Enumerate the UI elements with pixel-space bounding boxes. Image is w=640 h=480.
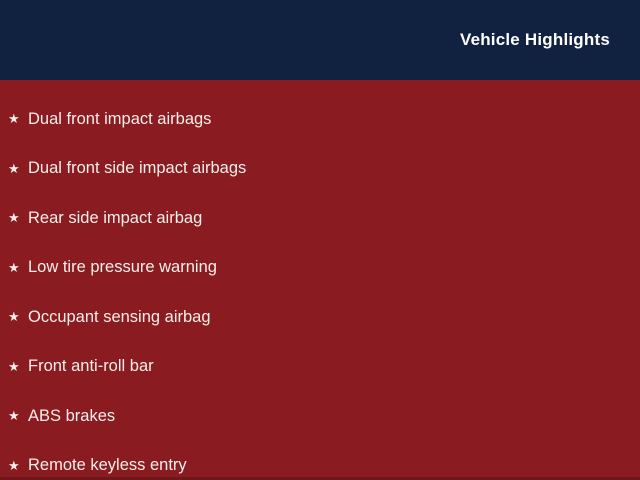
- list-item: ★ ABS brakes: [0, 391, 640, 441]
- star-bullet-icon: ★: [8, 360, 28, 373]
- star-bullet-icon: ★: [8, 409, 28, 422]
- star-bullet-icon: ★: [8, 211, 28, 224]
- list-item: ★ Occupant sensing airbag: [0, 292, 640, 342]
- star-bullet-icon: ★: [8, 162, 28, 175]
- list-item-label: ABS brakes: [28, 408, 115, 425]
- star-bullet-icon: ★: [8, 261, 28, 274]
- list-item-label: Low tire pressure warning: [28, 259, 217, 276]
- vehicle-highlights-list: ★ Dual front impact airbags ★ Dual front…: [0, 94, 640, 480]
- list-item-label: Rear side impact airbag: [28, 210, 202, 227]
- list-item-label: Dual front impact airbags: [28, 111, 211, 128]
- list-item-label: Front anti-roll bar: [28, 358, 154, 375]
- page-header: Vehicle Highlights: [0, 0, 640, 80]
- star-bullet-icon: ★: [8, 112, 28, 125]
- list-item: ★ Front anti-roll bar: [0, 342, 640, 392]
- list-item-label: Remote keyless entry: [28, 457, 187, 474]
- vehicle-highlights-page: Vehicle Highlights ★ Dual front impact a…: [0, 0, 640, 480]
- list-item: ★ Remote keyless entry: [0, 441, 640, 480]
- list-item: ★ Dual front impact airbags: [0, 94, 640, 144]
- list-item-label: Occupant sensing airbag: [28, 309, 211, 326]
- list-item: ★ Low tire pressure warning: [0, 243, 640, 293]
- page-title: Vehicle Highlights: [460, 30, 610, 50]
- highlights-panel: ★ Dual front impact airbags ★ Dual front…: [0, 80, 640, 480]
- list-item: ★ Rear side impact airbag: [0, 193, 640, 243]
- star-bullet-icon: ★: [8, 310, 28, 323]
- star-bullet-icon: ★: [8, 459, 28, 472]
- list-item-label: Dual front side impact airbags: [28, 160, 246, 177]
- list-item: ★ Dual front side impact airbags: [0, 144, 640, 194]
